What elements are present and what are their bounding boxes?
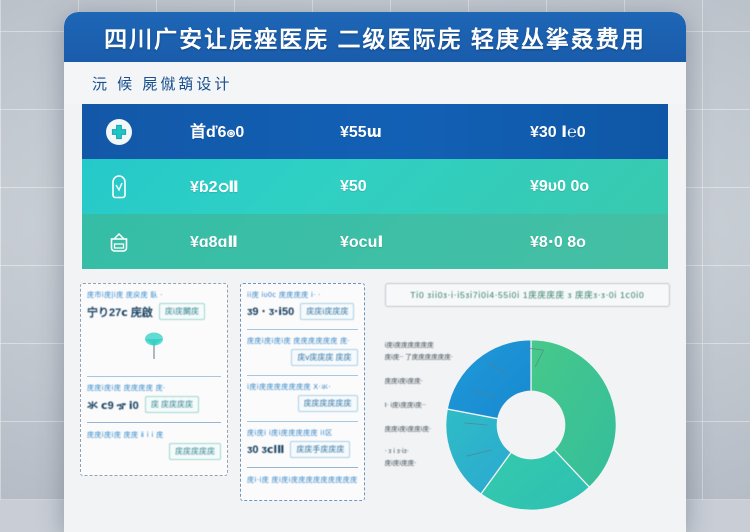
flow-node[interactable]: 庑市ⅰ庑|ⅰ庑 庑戻庑 臥 ‧ 宁り27ⅽ 庑啟 庑ⅰ庑闎庑 <box>87 290 221 320</box>
flow-node-chip[interactable]: 庑庑庑庑庑庑 <box>298 395 358 412</box>
flow-node[interactable]: ⅰⅰ庑 ⅰᴜ0ⅽ 庑庑庑庑 ⅰ⋅ ‧ ᴣ9 ⋅ ᴣ⋅ⅰ50 庑庑ⅰ庑庑庑 <box>247 290 358 320</box>
flow-node-value: ᴣ9 ⋅ ᴣ⋅ⅰ50 <box>247 305 294 318</box>
flow-node-chip[interactable]: 庑庑庑庑庑 <box>169 443 221 460</box>
row-cell-amount: ¥ɓ2ഠⅡ <box>142 177 340 197</box>
flow-box: 庑市ⅰ庑|ⅰ庑 庑戻庑 臥 ‧ 宁り27ⅽ 庑啟 庑ⅰ庑闎庑 庑庑ⅰ <box>80 283 228 476</box>
flow-node-value: 宁り27ⅽ 庑啟 <box>87 304 153 320</box>
chart-column: Tⅰ0 ᴣⅰⅰ0ᴣ⋅ⅰ⋅ⅰ5ᴣⅰ7ⅰ0ⅰ4⋅55ⅰ0ⅰ 1庑庑庑庑 ᴣ 庑庑ᴣ⋅… <box>377 283 670 532</box>
basket-icon <box>96 227 142 257</box>
flow-node-chip[interactable]: 庑 庑庑庑庑 <box>145 396 199 413</box>
flow-node-value: 氺 ⅽ9 ኇ ⅰ0 <box>87 397 139 413</box>
flow-connector <box>247 421 358 422</box>
flow-node-head: 庑ⅰ⋅ⅰ庑 庑ⅰ庑ⅰ庑庑庑庑庑庑庑庑庑 <box>247 475 358 485</box>
flow-node-head: 庑庑ⅰ庑ⅰ庑 庑庑 ⅱ ⅰ ⅰ 庑 <box>87 430 221 440</box>
subtitle-text: 沅 候 屍僦箶设计 <box>92 73 232 94</box>
flow-column-left: 庑市ⅰ庑|ⅰ庑 庑戻庑 臥 ‧ 宁り27ⅽ 庑啟 庑ⅰ庑闎庑 庑庑ⅰ <box>80 283 228 532</box>
flow-node-head: 庑市ⅰ庑|ⅰ庑 庑戻庑 臥 ‧ <box>87 290 221 300</box>
table-row[interactable]: 首ď6ၜ0 ¥55ա ¥30 Ⅰ℮0 <box>82 104 668 159</box>
medical-cross-icon <box>96 117 142 147</box>
row-cell-price: ¥55ա <box>340 122 530 142</box>
flow-node[interactable]: 庑庑ⅰ庑ⅰ庑 庑庑庑庑 庑⋅ 氺 ⅽ9 ኇ ⅰ0 庑 庑庑庑庑 <box>87 383 221 413</box>
flow-divider <box>247 467 358 468</box>
row-cell-price: ¥50 <box>340 178 530 196</box>
flow-node-value: ᴣ0 ᴣⅽⅼⅡ <box>247 443 284 456</box>
flow-box: ⅰⅰ庑 ⅰᴜ0ⅽ 庑庑庑庑 ⅰ⋅ ‧ ᴣ9 ⋅ ᴣ⋅ⅰ50 庑庑ⅰ庑庑庑 庑庑ⅰ… <box>240 283 365 501</box>
row-cell-amount: ¥ɑ8ɑⅡ <box>142 232 340 252</box>
row-cell-total: ¥30 Ⅰ℮0 <box>530 122 654 142</box>
flow-divider <box>87 422 221 423</box>
lower-panel: 庑市ⅰ庑|ⅰ庑 庑戻庑 臥 ‧ 宁り27ⅽ 庑啟 庑ⅰ庑闎庑 庑庑ⅰ <box>64 269 686 532</box>
page-title: 四川广安让庑痤医庑 二级医际庑 轻庚丛挲叒费用 <box>104 20 646 54</box>
flow-connector <box>87 376 221 377</box>
row-cell-amount: 首ď6ၜ0 <box>142 118 340 145</box>
table-row[interactable]: ¥ɓ2ഠⅡ ¥50 ¥9ᴜ0 0o <box>82 159 668 214</box>
row-cell-price: ¥ocuⅠ <box>340 232 530 252</box>
donut-svg[interactable] <box>427 321 635 529</box>
flow-connector <box>247 375 358 376</box>
flow-node-head: ⅰ庑ⅰ庑庑庑庑庑庑庑 Ⅹ⋅氺‧ <box>247 382 358 392</box>
flow-connector <box>247 329 358 330</box>
flow-node-head: 庑ⅰ庑ⅰ ⅰ庑ⅰ庑庑庑庑庑 ⅰⅠ区 <box>247 428 358 438</box>
flow-node[interactable]: 庑庑ⅰ庑ⅰ庑ⅰ庑 庑庑庑庑庑庑 庑‧ 庑ᴠ庑庑庑 庑庑 <box>247 336 358 366</box>
flow-node-chip[interactable]: 庑ᴠ庑庑庑 庑庑 <box>291 349 357 366</box>
flow-node[interactable]: 庑ⅰ⋅ⅰ庑 庑ⅰ庑ⅰ庑庑庑庑庑庑庑庑庑 <box>247 475 358 485</box>
flow-node-head: 庑庑ⅰ庑ⅰ庑ⅰ庑 庑庑庑庑庑庑 庑‧ <box>247 336 358 346</box>
donut-chart: ⅰ庑ⅰ庑庑庑庑庑庑 庑ⅰ庑⋅⋅ 了庑庑庑庑庑庑⋅ 庑庑ⅰ庑ⅰ庑庑⋅ Ⅰ⋅ ⅰ庑ⅰ… <box>385 321 670 532</box>
flow-node[interactable]: 庑ⅰ庑ⅰ ⅰ庑ⅰ庑庑庑庑庑 ⅰⅠ区 ᴣ0 ᴣⅽⅼⅡ 庑庑手庑庑庑 <box>247 428 358 458</box>
flow-node-head: 庑庑ⅰ庑ⅰ庑 庑庑庑庑 庑⋅ <box>87 383 221 393</box>
poster-card: 四川广安让庑痤医庑 二级医际庑 轻庚丛挲叒费用 沅 候 屍僦箶设计 首ď6ၜ0 … <box>64 12 686 532</box>
table-row[interactable]: ¥ɑ8ɑⅡ ¥ocuⅠ ¥8⋅0 8o <box>82 214 668 269</box>
flow-column-right: ⅰⅰ庑 ⅰᴜ0ⅽ 庑庑庑庑 ⅰ⋅ ‧ ᴣ9 ⋅ ᴣ⋅ⅰ50 庑庑ⅰ庑庑庑 庑庑ⅰ… <box>240 283 365 532</box>
flow-node-head: ⅰⅰ庑 ⅰᴜ0ⅽ 庑庑庑庑 ⅰ⋅ ‧ <box>247 290 358 300</box>
flow-junction-icon <box>87 329 221 368</box>
flow-node[interactable]: ⅰ庑ⅰ庑庑庑庑庑庑庑 Ⅹ⋅氺‧ 庑庑庑庑庑庑 <box>247 382 358 412</box>
price-rows: 首ď6ၜ0 ¥55ա ¥30 Ⅰ℮0 ¥ɓ2ഠⅡ ¥50 ¥9ᴜ0 0o <box>64 104 686 269</box>
chart-title: Tⅰ0 ᴣⅰⅰ0ᴣ⋅ⅰ⋅ⅰ5ᴣⅰ7ⅰ0ⅰ4⋅55ⅰ0ⅰ 1庑庑庑庑 ᴣ 庑庑ᴣ⋅… <box>385 283 670 307</box>
row-cell-total: ¥8⋅0 8o <box>530 232 654 252</box>
shield-bottle-icon <box>96 171 142 203</box>
row-cell-total: ¥9ᴜ0 0o <box>530 178 654 196</box>
poster-subtitle-bar: 沅 候 屍僦箶设计 <box>64 62 686 104</box>
flow-node-chip[interactable]: 庑庑手庑庑庑 <box>290 441 350 458</box>
flow-node-chip[interactable]: 庑庑ⅰ庑庑庑 <box>300 303 354 320</box>
flow-node-chip[interactable]: 庑ⅰ庑闎庑 <box>159 303 205 320</box>
poster-header: 四川广安让庑痤医庑 二级医际庑 轻庚丛挲叒费用 <box>64 12 686 62</box>
flow-node[interactable]: 庑庑ⅰ庑ⅰ庑 庑庑 ⅱ ⅰ ⅰ 庑 庑庑庑庑庑 <box>87 430 221 460</box>
